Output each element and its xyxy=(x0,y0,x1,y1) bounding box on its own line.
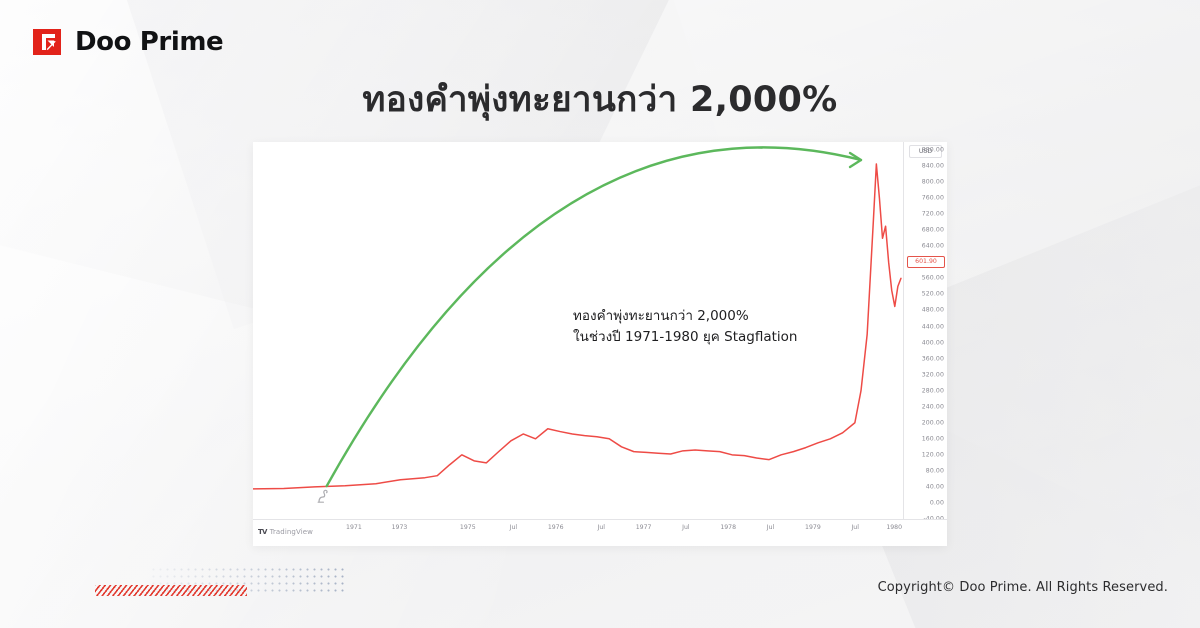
y-axis-tick: 200.00 xyxy=(922,419,944,426)
y-axis-tick: 560.00 xyxy=(922,275,944,282)
y-axis-tick: 80.00 xyxy=(926,467,944,474)
slide-canvas: Doo Prime ทองคำพุ่งทะยานกว่า 2,000% ทองค… xyxy=(0,0,1200,628)
growth-arrow-head-icon xyxy=(850,153,861,167)
x-axis-tick: 1980 xyxy=(886,524,902,531)
y-axis-tick: 720.00 xyxy=(922,211,944,218)
last-price-badge: 601.90 xyxy=(907,256,945,268)
y-axis-tick: 240.00 xyxy=(922,403,944,410)
y-axis-tick: 120.00 xyxy=(922,451,944,458)
y-axis-tick: 800.00 xyxy=(922,179,944,186)
x-axis-tick: Jul xyxy=(510,524,517,531)
y-axis-tick: 160.00 xyxy=(922,435,944,442)
annotation-line-1: ทองคำพุ่งทะยานกว่า 2,000% xyxy=(573,306,797,327)
gold-price-chart-card: ทองคำพุ่งทะยานกว่า 2,000% ในช่วงปี 1971-… xyxy=(253,142,947,546)
y-axis[interactable]: USD 880.00840.00800.00760.00720.00680.00… xyxy=(903,142,947,519)
chart-cursor-icon xyxy=(315,487,333,505)
red-stripe-decoration xyxy=(95,585,247,596)
x-axis-tick: 1975 xyxy=(460,524,476,531)
x-axis-tick: 1979 xyxy=(805,524,821,531)
y-axis-tick: 280.00 xyxy=(922,387,944,394)
y-axis-tick: 520.00 xyxy=(922,291,944,298)
x-axis-tick: 1978 xyxy=(720,524,736,531)
x-axis-tick: Jul xyxy=(851,524,858,531)
y-axis-tick: 480.00 xyxy=(922,307,944,314)
doo-prime-logo: Doo Prime xyxy=(32,26,223,58)
y-axis-tick: 440.00 xyxy=(922,323,944,330)
y-axis-tick: 680.00 xyxy=(922,227,944,234)
x-axis-tick: Jul xyxy=(598,524,605,531)
chart-annotation: ทองคำพุ่งทะยานกว่า 2,000% ในช่วงปี 1971-… xyxy=(573,306,797,348)
tradingview-label: TradingView xyxy=(270,528,313,536)
x-axis-tick: 1976 xyxy=(548,524,564,531)
x-axis-tick: 1971 xyxy=(346,524,362,531)
doo-prime-flag-icon xyxy=(32,26,64,58)
logo-wordmark: Doo Prime xyxy=(75,27,223,57)
tradingview-attribution: TV TradingView xyxy=(258,528,313,536)
x-axis-tick: 1977 xyxy=(636,524,652,531)
x-axis-tick: 1973 xyxy=(392,524,408,531)
y-axis-tick: 360.00 xyxy=(922,355,944,362)
y-axis-tick: 320.00 xyxy=(922,371,944,378)
copyright-notice: Copyright© Doo Prime. All Rights Reserve… xyxy=(878,580,1168,595)
y-axis-tick: 880.00 xyxy=(922,147,944,154)
y-axis-tick: 840.00 xyxy=(922,163,944,170)
y-axis-tick: 40.00 xyxy=(926,483,944,490)
y-axis-tick: 0.00 xyxy=(930,500,944,507)
page-title: ทองคำพุ่งทะยานกว่า 2,000% xyxy=(0,72,1200,127)
x-axis-tick: Jul xyxy=(682,524,689,531)
annotation-line-2: ในช่วงปี 1971-1980 ยุค Stagflation xyxy=(573,327,797,348)
y-axis-tick: 760.00 xyxy=(922,195,944,202)
y-axis-tick: 400.00 xyxy=(922,339,944,346)
x-axis-tick: Jul xyxy=(767,524,774,531)
tradingview-logo-icon: TV xyxy=(258,528,267,536)
x-axis[interactable]: 197119731975Jul1976Jul1977Jul1978Jul1979… xyxy=(253,519,947,536)
y-axis-tick: 640.00 xyxy=(922,243,944,250)
